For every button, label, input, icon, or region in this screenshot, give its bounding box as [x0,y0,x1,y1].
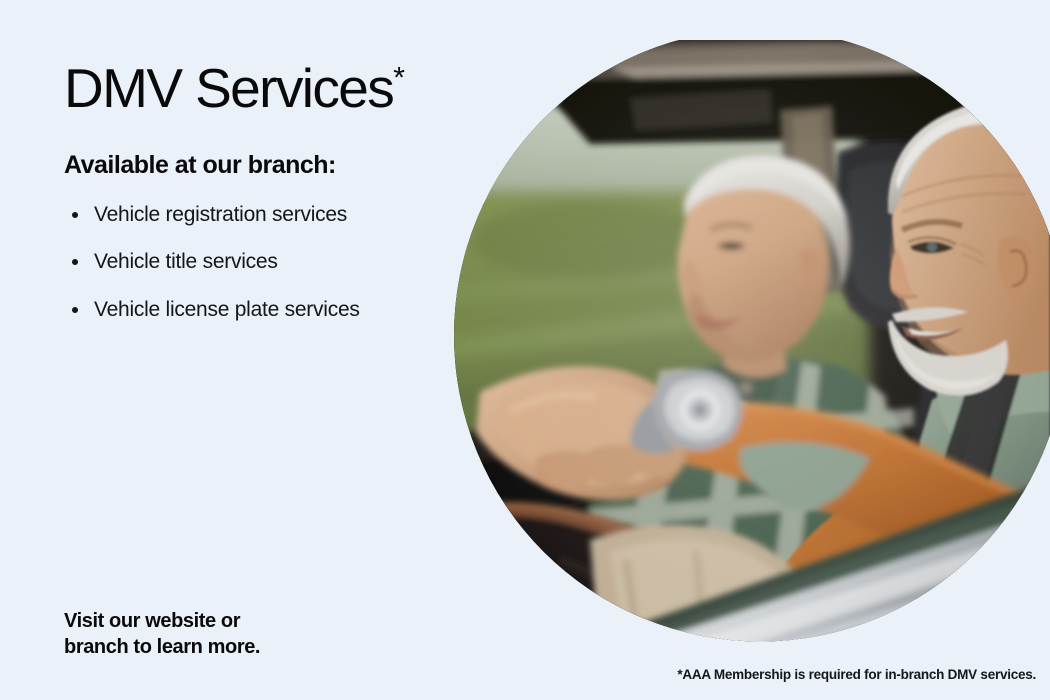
list-item-label: Vehicle title services [94,250,278,273]
list-item: Vehicle license plate services [64,297,464,322]
title-asterisk: * [393,62,405,95]
services-list: Vehicle registration services Vehicle ti… [64,202,464,322]
list-item: Vehicle registration services [64,202,464,227]
list-item: Vehicle title services [64,249,464,274]
dmv-services-banner: DMV Services* Available at our branch: V… [0,0,1050,700]
bullet-dot-icon [72,307,78,313]
bullet-dot-icon [72,259,78,265]
cta-line-2: branch to learn more. [64,634,260,660]
hero-photo [440,40,1050,655]
page-title-text: DMV Services [64,57,393,119]
subheading: Available at our branch: [64,151,464,180]
footnote-disclaimer: *AAA Membership is required for in-branc… [677,667,1036,682]
list-item-label: Vehicle license plate services [94,298,360,321]
cta-line-1: Visit our website or [64,608,260,634]
hero-photo-circle-mask [440,40,1050,655]
call-to-action: Visit our website or branch to learn mor… [64,608,260,661]
hero-photo-illustration [440,40,1050,655]
bullet-dot-icon [72,212,78,218]
page-title: DMV Services* [64,60,464,117]
banner-text-content: DMV Services* Available at our branch: V… [64,60,464,322]
list-item-label: Vehicle registration services [94,203,347,226]
